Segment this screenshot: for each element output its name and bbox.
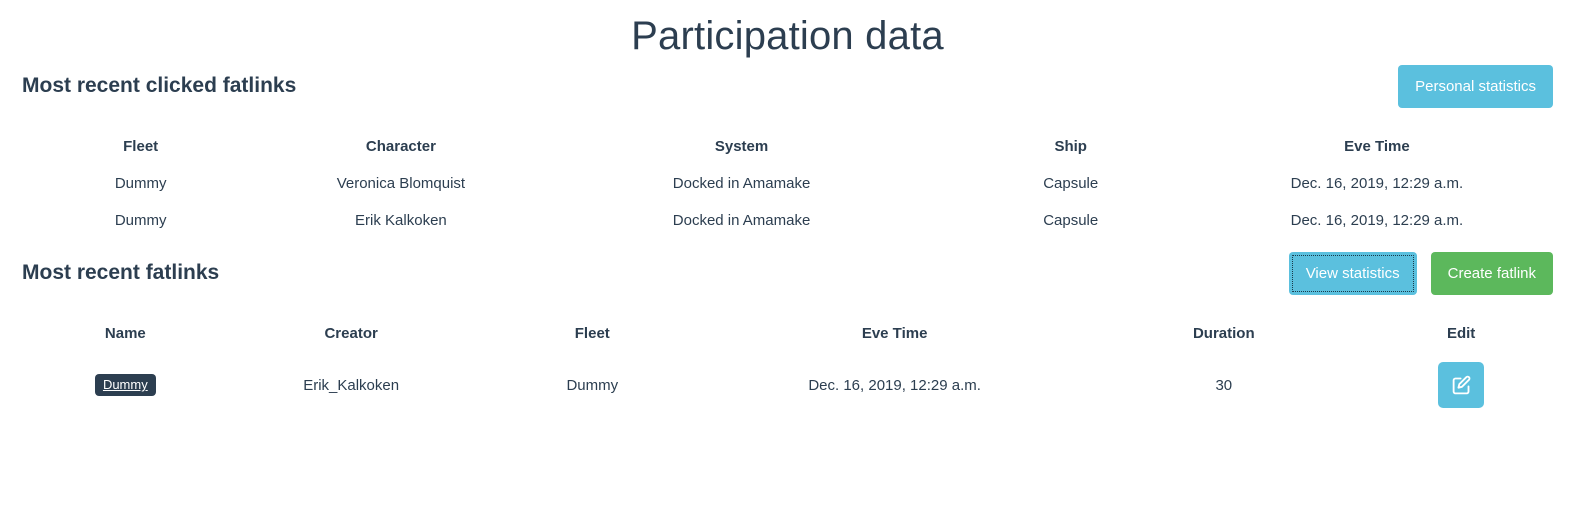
section-spacer xyxy=(22,299,1553,317)
recent-fatlinks-title: Most recent fatlinks xyxy=(22,260,219,286)
column-header-edit: Edit xyxy=(1369,317,1553,352)
recent-fatlinks-header: Most recent fatlinks View statistics Cre… xyxy=(22,247,1553,299)
clicked-fatlinks-title: Most recent clicked fatlinks xyxy=(22,73,296,99)
recent-fatlinks-section: Most recent fatlinks View statistics Cre… xyxy=(0,247,1575,418)
cell-fleet: Dummy xyxy=(22,165,259,202)
column-header-ship: Ship xyxy=(941,130,1201,165)
cell-fleet: Dummy xyxy=(474,352,711,418)
page-title: Participation data xyxy=(0,0,1575,60)
table-row: Dummy Erik Kalkoken Docked in Amamake Ca… xyxy=(22,202,1553,239)
cell-ship: Capsule xyxy=(941,165,1201,202)
column-header-duration: Duration xyxy=(1078,317,1369,352)
cell-system: Docked in Amamake xyxy=(543,202,941,239)
section-spacer xyxy=(22,112,1553,130)
cell-eve-time: Dec. 16, 2019, 12:29 a.m. xyxy=(1201,202,1553,239)
between-sections-spacer xyxy=(0,239,1575,247)
column-header-eve-time: Eve Time xyxy=(711,317,1078,352)
table-header-row: Fleet Character System Ship Eve Time xyxy=(22,130,1553,165)
create-fatlink-button[interactable]: Create fatlink xyxy=(1431,252,1553,295)
cell-system: Docked in Amamake xyxy=(543,165,941,202)
cell-character: Veronica Blomquist xyxy=(259,165,542,202)
clicked-fatlinks-section: Most recent clicked fatlinks Personal st… xyxy=(0,60,1575,239)
column-header-fleet: Fleet xyxy=(474,317,711,352)
view-statistics-button[interactable]: View statistics xyxy=(1289,252,1417,295)
cell-eve-time: Dec. 16, 2019, 12:29 a.m. xyxy=(1201,165,1553,202)
cell-duration: 30 xyxy=(1078,352,1369,418)
recent-fatlinks-actions: View statistics Create fatlink xyxy=(1289,252,1553,295)
edit-pencil-square-icon xyxy=(1451,375,1472,396)
cell-character: Erik Kalkoken xyxy=(259,202,542,239)
table-row: Dummy Veronica Blomquist Docked in Amama… xyxy=(22,165,1553,202)
column-header-system: System xyxy=(543,130,941,165)
cell-ship: Capsule xyxy=(941,202,1201,239)
column-header-creator: Creator xyxy=(229,317,474,352)
column-header-fleet: Fleet xyxy=(22,130,259,165)
clicked-fatlinks-table: Fleet Character System Ship Eve Time Dum… xyxy=(22,130,1553,239)
personal-statistics-button[interactable]: Personal statistics xyxy=(1398,65,1553,108)
cell-name: Dummy xyxy=(22,352,229,418)
edit-fatlink-button[interactable] xyxy=(1438,362,1484,408)
column-header-name: Name xyxy=(22,317,229,352)
column-header-eve-time: Eve Time xyxy=(1201,130,1553,165)
table-header-row: Name Creator Fleet Eve Time Duration Edi… xyxy=(22,317,1553,352)
cell-fleet: Dummy xyxy=(22,202,259,239)
cell-eve-time: Dec. 16, 2019, 12:29 a.m. xyxy=(711,352,1078,418)
cell-edit xyxy=(1369,352,1553,418)
fatlink-name-link[interactable]: Dummy xyxy=(95,374,156,396)
clicked-fatlinks-header: Most recent clicked fatlinks Personal st… xyxy=(22,60,1553,112)
cell-creator: Erik_Kalkoken xyxy=(229,352,474,418)
clicked-fatlinks-actions: Personal statistics xyxy=(1398,65,1553,108)
recent-fatlinks-table: Name Creator Fleet Eve Time Duration Edi… xyxy=(22,317,1553,418)
column-header-character: Character xyxy=(259,130,542,165)
table-row: Dummy Erik_Kalkoken Dummy Dec. 16, 2019,… xyxy=(22,352,1553,418)
